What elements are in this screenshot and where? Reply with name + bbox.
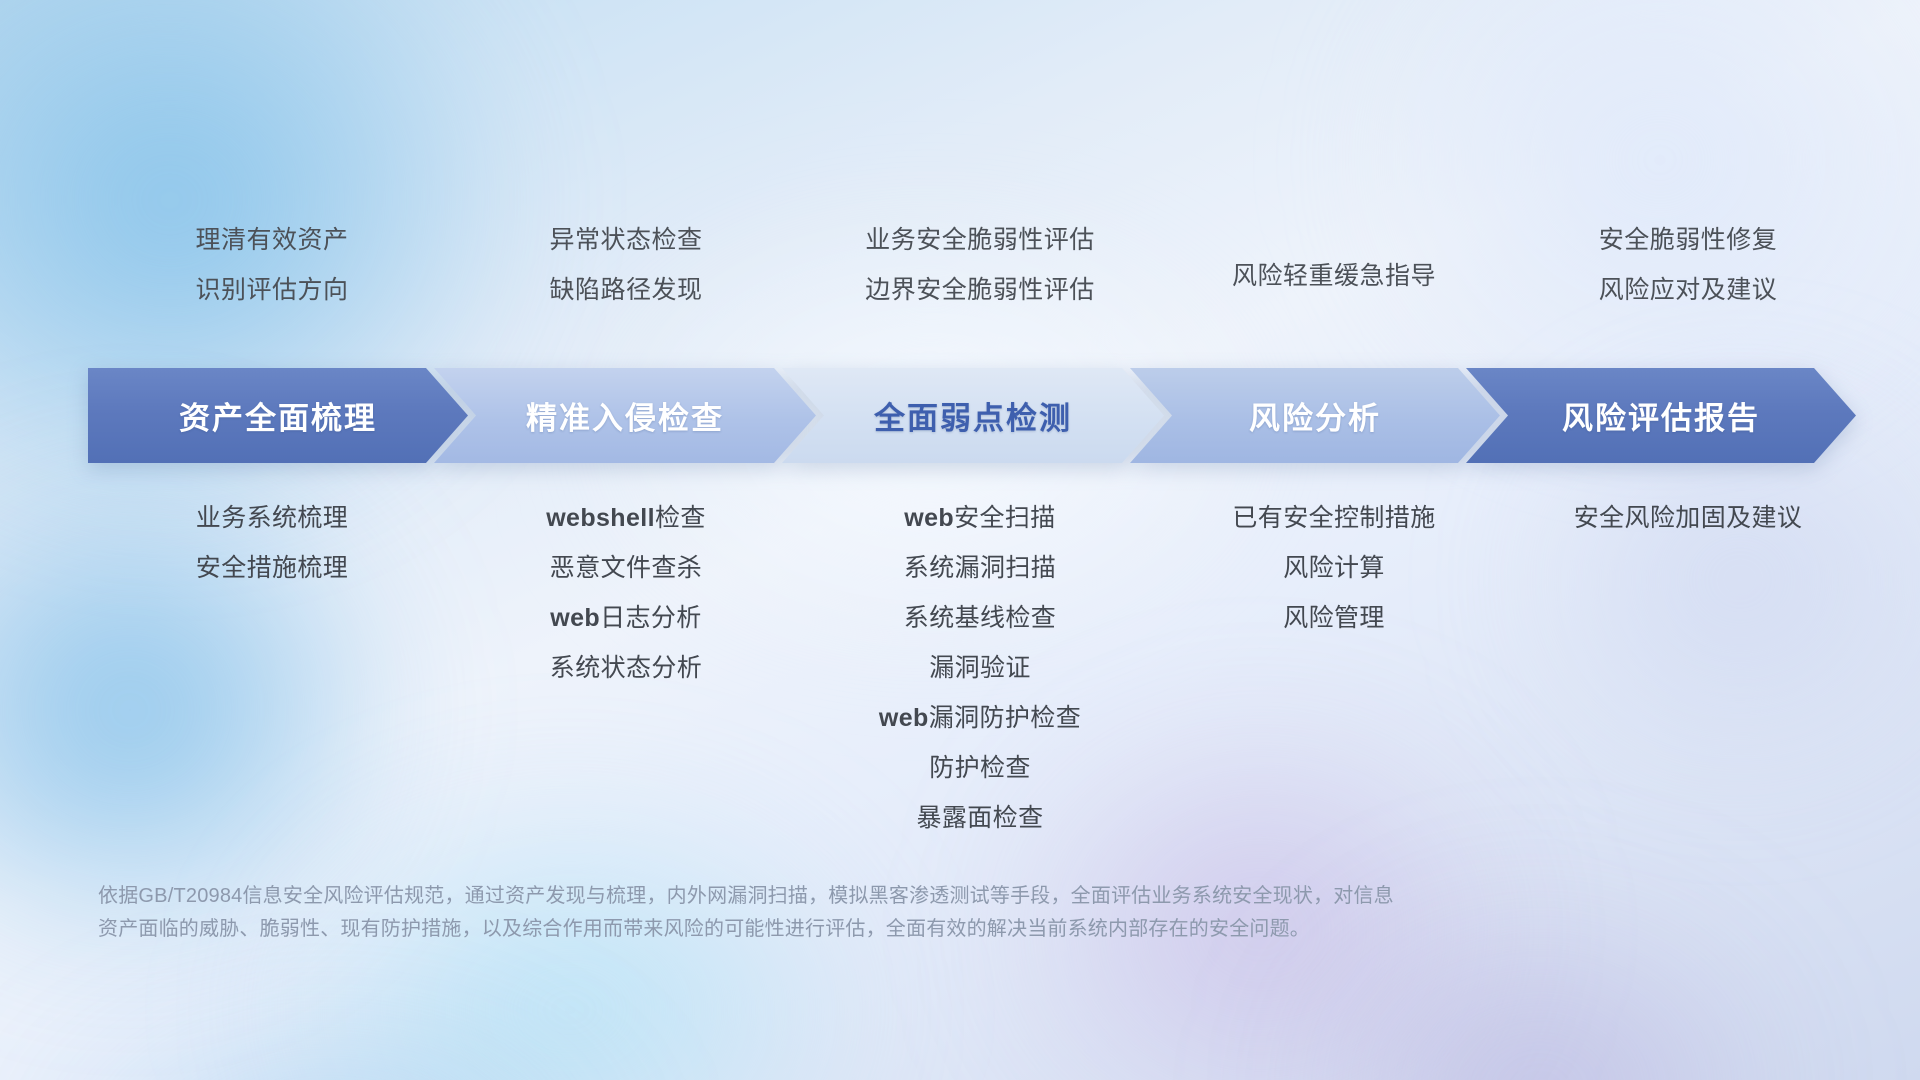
bottom-item: webshell检查 <box>546 506 706 531</box>
bottom-item: 风险管理 <box>1283 606 1385 631</box>
stage-arrow-label-2: 精准入侵检查 <box>434 393 816 438</box>
top-notes-stage-4: 风险轻重缓急指导 <box>1157 228 1511 289</box>
stage-arrow-3[interactable]: 全面弱点检测 <box>782 368 1164 463</box>
bottom-items-stage-5: 安全风险加固及建议 <box>1511 506 1865 531</box>
bottom-item: 业务系统梳理 <box>196 506 348 531</box>
bottom-item: 系统基线检查 <box>904 606 1056 631</box>
stage-arrow-label-4: 风险分析 <box>1130 393 1500 438</box>
top-notes-row: 理清有效资产 识别评估方向 异常状态检查 缺陷路径发现 业务安全脆弱性评估 边界… <box>95 228 1865 303</box>
bottom-item: 漏洞验证 <box>929 656 1031 681</box>
bottom-item: web漏洞防护检查 <box>879 706 1081 731</box>
bottom-items-stage-1: 业务系统梳理安全措施梳理 <box>95 506 449 581</box>
bottom-item: 恶意文件查杀 <box>550 556 702 581</box>
top-notes-stage-1: 理清有效资产 识别评估方向 <box>95 228 449 303</box>
bottom-item: 风险计算 <box>1283 556 1385 581</box>
bottom-item: 已有安全控制措施 <box>1232 506 1435 531</box>
top-notes-stage-2: 异常状态检查 缺陷路径发现 <box>449 228 803 303</box>
top-notes-stage-3: 业务安全脆弱性评估 边界安全脆弱性评估 <box>803 228 1157 303</box>
stage-arrow-2[interactable]: 精准入侵检查 <box>434 368 816 463</box>
bottom-items-stage-2: webshell检查恶意文件查杀web日志分析系统状态分析 <box>449 506 803 681</box>
stage-arrow-label-5: 风险评估报告 <box>1466 393 1856 438</box>
top-note: 风险应对及建议 <box>1599 278 1778 303</box>
top-note: 边界安全脆弱性评估 <box>865 278 1095 303</box>
bottom-items-row: 业务系统梳理安全措施梳理 webshell检查恶意文件查杀web日志分析系统状态… <box>95 506 1865 831</box>
bottom-item: web日志分析 <box>550 606 701 631</box>
stage-arrow-5[interactable]: 风险评估报告 <box>1466 368 1856 463</box>
stage-arrow-label-1: 资产全面梳理 <box>88 393 468 438</box>
diagram-content: 理清有效资产 识别评估方向 异常状态检查 缺陷路径发现 业务安全脆弱性评估 边界… <box>0 0 1920 1080</box>
top-note: 安全脆弱性修复 <box>1599 228 1778 253</box>
bottom-item: 暴露面检查 <box>916 806 1043 831</box>
footer-description: 依据GB/T20984信息安全风险评估规范，通过资产发现与梳理，内外网漏洞扫描，… <box>98 880 1628 946</box>
process-arrow-ribbon: 资产全面梳理 精准入侵检查 全面弱点检测 风险分析 风险评估报告 <box>88 368 1866 463</box>
bottom-item: 系统漏洞扫描 <box>904 556 1056 581</box>
top-note: 缺陷路径发现 <box>549 278 702 303</box>
bottom-item: 系统状态分析 <box>550 656 702 681</box>
top-note: 风险轻重缓急指导 <box>1232 264 1436 289</box>
footer-line-2: 资产面临的威胁、脆弱性、现有防护措施，以及综合作用而带来风险的可能性进行评估，全… <box>98 913 1628 946</box>
top-note: 识别评估方向 <box>195 278 348 303</box>
bottom-item: 安全措施梳理 <box>196 556 348 581</box>
bottom-item: 安全风险加固及建议 <box>1574 506 1803 531</box>
top-note: 理清有效资产 <box>195 228 348 253</box>
top-note: 异常状态检查 <box>549 228 702 253</box>
bottom-item: 防护检查 <box>929 756 1031 781</box>
stage-arrow-label-3: 全面弱点检测 <box>782 393 1164 438</box>
top-notes-stage-5: 安全脆弱性修复 风险应对及建议 <box>1511 228 1865 303</box>
bottom-item: web安全扫描 <box>904 506 1055 531</box>
bottom-items-stage-3: web安全扫描系统漏洞扫描系统基线检查漏洞验证web漏洞防护检查防护检查暴露面检… <box>803 506 1157 831</box>
bottom-items-stage-4: 已有安全控制措施风险计算风险管理 <box>1157 506 1511 631</box>
footer-line-1: 依据GB/T20984信息安全风险评估规范，通过资产发现与梳理，内外网漏洞扫描，… <box>98 880 1628 913</box>
stage-arrow-1[interactable]: 资产全面梳理 <box>88 368 468 463</box>
top-note: 业务安全脆弱性评估 <box>865 228 1095 253</box>
stage-arrow-4[interactable]: 风险分析 <box>1130 368 1500 463</box>
